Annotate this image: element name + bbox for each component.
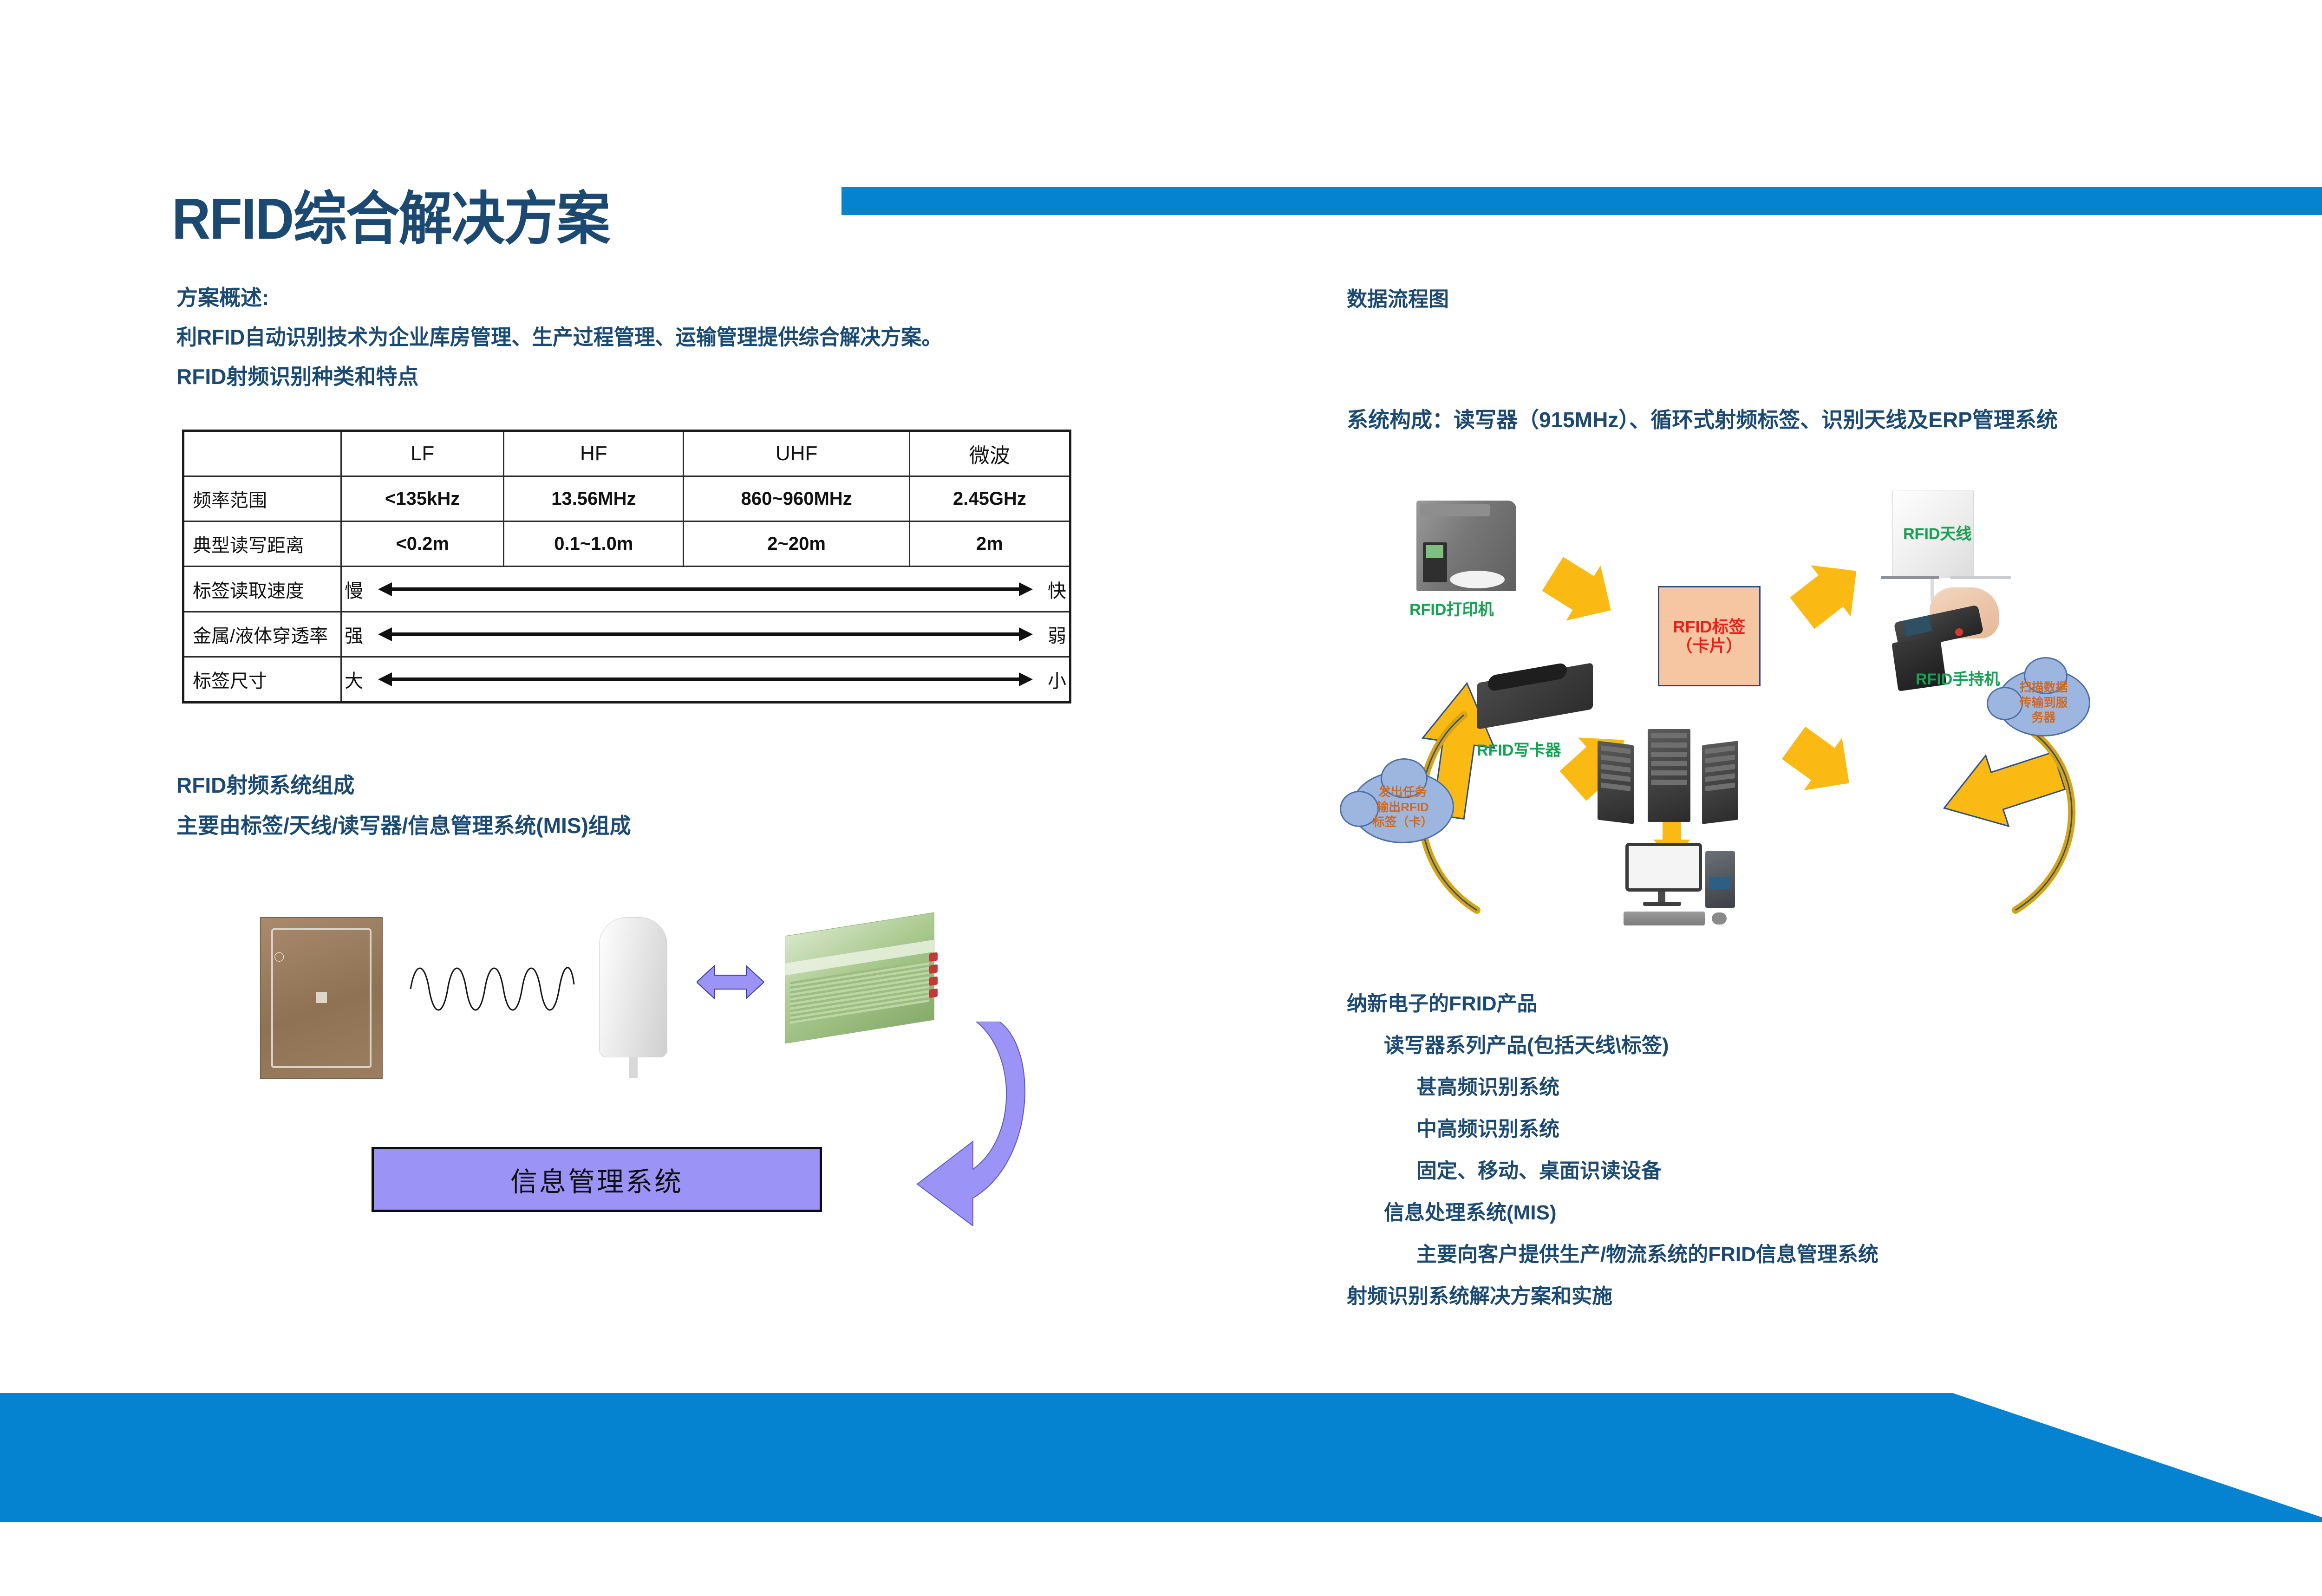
page-title: RFID综合解决方案 — [172, 190, 609, 248]
arrow-printer-to-tag — [1535, 546, 1628, 638]
table-cell: 0.1~1.0m — [504, 521, 684, 567]
handheld-trigger-button — [1955, 628, 1963, 636]
radio-wave-icon — [409, 959, 576, 1019]
arrow-tag-to-handheld — [1774, 717, 1868, 809]
table-cell: 2~20m — [684, 521, 909, 567]
product-list-item: 读写器系列产品(包括天线\标签) — [1384, 1029, 2136, 1058]
table-row: 典型读写距离<0.2m0.1~1.0m2~20m2m — [183, 521, 1070, 567]
rfid-system-illustration: ◯ 信息管理系统 — [232, 868, 1031, 1240]
product-list-item: 信息处理系统(MIS) — [1384, 1196, 2136, 1225]
pc-tower — [1705, 851, 1735, 908]
cycle-curve-right — [2015, 724, 2072, 910]
tag-brand-mark: ◯ — [274, 951, 284, 962]
server-rack-photo — [1598, 722, 1746, 822]
cloud-scan-upload-text: 扫描数据传输到服务器 — [2019, 680, 2068, 725]
product-list: 纳新电子的FRID产品读写器系列产品(包括天线\标签)甚高频识别系统中高频识别系… — [1347, 987, 2136, 1321]
rfid-card-writer-photo — [1477, 666, 1602, 727]
double-arrow-icon — [378, 627, 1033, 641]
table-column-header: 微波 — [909, 431, 1070, 476]
double-arrow-icon — [378, 672, 1033, 686]
product-list-item: 射频识别系统解决方案和实施 — [1347, 1279, 2136, 1309]
table-header-row: LFHFUHF微波 — [183, 431, 1070, 476]
rfid-printer-photo — [1416, 501, 1516, 591]
overview-label: 方案概述: — [176, 281, 269, 312]
printer-top-lid — [1420, 504, 1490, 516]
product-list-item: 甚高频识别系统 — [1416, 1070, 2136, 1100]
mis-box: 信息管理系统 — [372, 1147, 822, 1212]
server-rack-right — [1702, 741, 1738, 824]
cloud-issue-task: 发出任务输出RFID标签（卡） — [1351, 771, 1454, 843]
rfid-tag-card-line1: RFID标签 — [1673, 617, 1746, 636]
monitor-stand — [1658, 892, 1665, 902]
cloud-issue-task-text: 发出任务输出RFID标签（卡） — [1372, 784, 1433, 830]
rfid-tag-card-box: RFID标签 （卡片） — [1658, 586, 1761, 686]
rfid-antenna-photo — [599, 917, 667, 1057]
table-row: 金属/液体穿透率强弱 — [183, 612, 1070, 657]
table-column-header: UHF — [684, 431, 909, 476]
table-row: 标签尺寸大小 — [183, 657, 1070, 702]
monitor — [1625, 843, 1702, 892]
rfid-tag-photo: ◯ — [260, 917, 383, 1079]
arrow-tag-to-antenna — [1782, 545, 1877, 638]
table-row-label: 频率范围 — [183, 476, 341, 521]
overview-body: 利RFID自动识别技术为企业库房管理、生产过程管理、运输管理提供综合解决方案。 — [176, 320, 942, 351]
mouse — [1712, 912, 1727, 925]
top-accent-banner — [841, 187, 2322, 215]
system-composition-statement: 系统构成：读写器（915MHz）、循环式射频标签、识别天线及ERP管理系统 — [1347, 403, 2058, 434]
table-row-label: 标签读取速度 — [183, 567, 341, 612]
rfid-comparison-table: LFHFUHF微波频率范围<135kHz13.56MHz860~960MHz2.… — [182, 430, 1071, 704]
data-flow-diagram: RFID打印机 RFID写卡器 RFID标签 （卡片） RFID天线 RFID手… — [1337, 464, 2155, 966]
system-composition-label: RFID射频系统组成 — [176, 769, 354, 799]
arrow-left-label: 强 — [342, 621, 366, 648]
table-column-header: HF — [504, 431, 684, 476]
table-row: 标签读取速度慢快 — [183, 567, 1070, 612]
table-gradient-arrow-cell: 大小 — [341, 657, 1070, 702]
dataflow-diagram-title: 数据流程图 — [1347, 282, 1449, 312]
arrow-right-label: 小 — [1045, 666, 1069, 693]
table-cell: 13.56MHz — [504, 476, 684, 521]
keyboard — [1624, 912, 1705, 925]
arrow-right-label: 弱 — [1045, 621, 1069, 648]
printer-screen — [1426, 545, 1443, 558]
table-gradient-arrow-cell: 强弱 — [341, 612, 1070, 657]
arrow-left-label: 慢 — [342, 576, 366, 603]
printer-paper — [1450, 571, 1505, 588]
product-list-item: 中高频识别系统 — [1416, 1112, 2136, 1142]
rfid-handheld-caption: RFID手持机 — [1916, 666, 2000, 689]
cloud-scan-upload: 扫描数据传输到服务器 — [1997, 669, 2090, 736]
tag-chip — [316, 992, 327, 1003]
server-rack-center — [1648, 729, 1690, 822]
arrow-right-label: 快 — [1045, 576, 1069, 603]
product-list-item: 纳新电子的FRID产品 — [1347, 987, 2136, 1016]
mis-box-label: 信息管理系统 — [510, 1160, 683, 1199]
table-row-label: 典型读写距离 — [183, 521, 341, 567]
shelf-line-left — [1881, 576, 1939, 579]
table-cell: 860~960MHz — [684, 476, 909, 521]
table-gradient-arrow-cell: 慢快 — [341, 567, 1070, 612]
rfid-printer-caption: RFID打印机 — [1409, 597, 1494, 619]
double-arrow-icon — [378, 582, 1033, 596]
table-row-label: 金属/液体穿透率 — [183, 612, 341, 657]
product-list-item: 固定、移动、桌面识读设备 — [1416, 1154, 2136, 1184]
rfid-kinds-label: RFID射频识别种类和特点 — [176, 360, 418, 391]
server-rack-left — [1598, 741, 1634, 824]
monitor-base — [1643, 902, 1681, 906]
table-corner-cell — [183, 431, 341, 476]
table-row: 频率范围<135kHz13.56MHz860~960MHz2.45GHz — [183, 476, 1070, 521]
product-list-item: 主要向客户提供生产/物流系统的FRID信息管理系统 — [1416, 1238, 2136, 1267]
curved-down-arrow-icon — [878, 1022, 1031, 1226]
antenna-pigtail — [629, 1057, 638, 1078]
table-row-label: 标签尺寸 — [183, 657, 341, 702]
rfid-tag-card-line2: （卡片） — [1676, 636, 1742, 655]
table-cell: <0.2m — [341, 521, 504, 567]
rfid-antenna-caption: RFID天线 — [1903, 521, 1971, 544]
bottom-accent-banner — [0, 1393, 2322, 1522]
table-cell: <135kHz — [341, 476, 504, 521]
reader-antenna-ports — [929, 952, 939, 1004]
system-composition-body: 主要由标签/天线/读写器/信息管理系统(MIS)组成 — [176, 809, 631, 840]
bidirectional-arrow-icon — [697, 961, 764, 1003]
arrow-left-label: 大 — [342, 666, 366, 693]
shelf-line-right — [1950, 576, 2011, 579]
table-cell: 2m — [909, 521, 1070, 567]
table-column-header: LF — [341, 431, 504, 476]
desktop-computer-photo — [1621, 843, 1741, 929]
table-cell: 2.45GHz — [909, 476, 1070, 521]
rfid-card-writer-caption: RFID写卡器 — [1477, 737, 1561, 760]
